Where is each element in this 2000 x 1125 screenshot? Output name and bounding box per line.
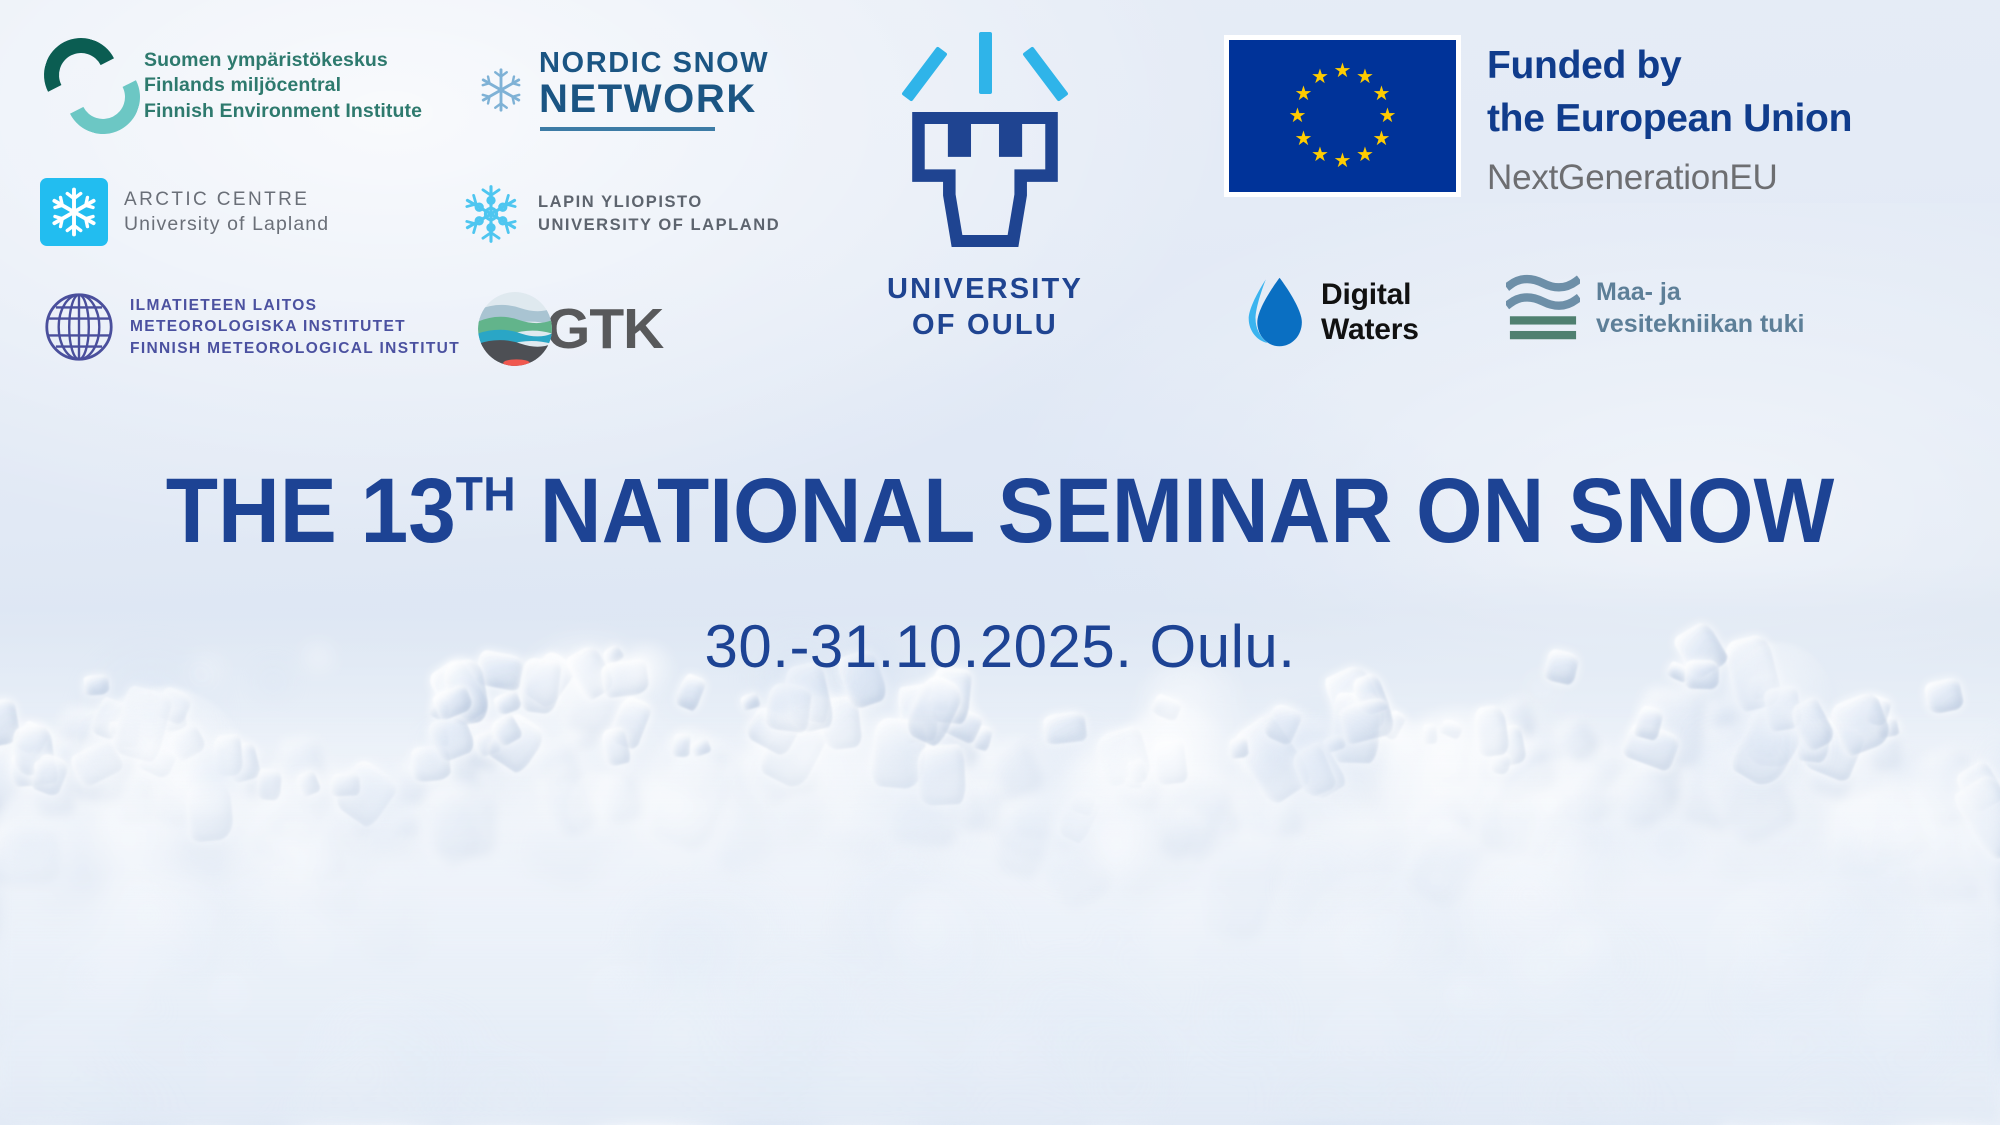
arctic-centre-wordmark: ARCTIC CENTRE University of Lapland bbox=[124, 187, 329, 237]
title-prefix: THE 13 bbox=[166, 460, 456, 562]
logo-arctic-centre[interactable]: ARCTIC CENTRE University of Lapland bbox=[40, 178, 329, 246]
eu-star-icon: ★ bbox=[1371, 84, 1391, 104]
nsn-underline-rule bbox=[540, 127, 715, 131]
eu-star-icon: ★ bbox=[1294, 129, 1314, 149]
snow-haze-overlay bbox=[0, 705, 2000, 1125]
eu-star-icon: ★ bbox=[1333, 61, 1353, 81]
gtk-landscape-icon bbox=[478, 292, 552, 366]
snowflake-icon bbox=[46, 184, 102, 240]
syke-line-2: Finlands miljöcentral bbox=[144, 73, 422, 99]
logo-university-of-oulu[interactable]: UNIVERSITY OF OULU bbox=[860, 30, 1110, 343]
oulu-line-2: OF OULU bbox=[887, 307, 1083, 343]
nsn-wordmark: NORDIC SNOW NETWORK bbox=[539, 48, 769, 131]
snowflake-icon bbox=[477, 66, 525, 114]
eu-line-2: the European Union bbox=[1487, 92, 1852, 145]
gtk-wordmark: GTK bbox=[546, 300, 663, 358]
page-title: THE 13TH NATIONAL SEMINAR ON SNOW bbox=[70, 465, 1930, 557]
mvt-wordmark: Maa- ja vesitekniikan tuki bbox=[1596, 276, 1804, 340]
oulu-spark-icon bbox=[910, 30, 1060, 104]
eu-star-icon: ★ bbox=[1310, 67, 1330, 87]
fmi-globe-icon bbox=[44, 292, 114, 362]
sponsor-logo-band: Suomen ympäristökeskus Finlands miljöcen… bbox=[0, 0, 2000, 380]
eu-star-icon: ★ bbox=[1288, 106, 1308, 126]
logo-maa-ja-vesitekniikan-tuki[interactable]: Maa- ja vesitekniikan tuki bbox=[1506, 274, 1804, 342]
mvt-line-2: vesitekniikan tuki bbox=[1596, 308, 1804, 340]
eu-wordmark: Funded by the European Union NextGenerat… bbox=[1487, 39, 1852, 202]
logo-nordic-snow-network[interactable]: NORDIC SNOW NETWORK bbox=[477, 48, 769, 131]
digital-waters-wordmark: Digital Waters bbox=[1321, 277, 1419, 347]
logo-funded-by-european-union[interactable]: ★★★★★★★★★★★★ Funded by the European Unio… bbox=[1224, 35, 1852, 202]
snowflake-icon bbox=[460, 182, 522, 246]
poster-canvas: Suomen ympäristökeskus Finlands miljöcen… bbox=[0, 0, 2000, 1125]
dw-line-2: Waters bbox=[1321, 312, 1419, 347]
logo-lapin-yliopisto[interactable]: LAPIN YLIOPISTO UNIVERSITY OF LAPLAND bbox=[460, 182, 780, 246]
waves-and-bars-icon bbox=[1506, 274, 1580, 342]
eu-star-icon: ★ bbox=[1378, 106, 1398, 126]
fmi-line-2: METEOROLOGISKA INSTITUTET bbox=[130, 316, 460, 338]
lapin-wordmark: LAPIN YLIOPISTO UNIVERSITY OF LAPLAND bbox=[538, 191, 780, 237]
arctic-centre-tile bbox=[40, 178, 108, 246]
lapin-line-1: LAPIN YLIOPISTO bbox=[538, 191, 780, 214]
dw-line-1: Digital bbox=[1321, 277, 1419, 312]
syke-circle-icon bbox=[44, 38, 128, 134]
fmi-line-3: FINNISH METEOROLOGICAL INSTITUT bbox=[130, 338, 460, 360]
arctic-centre-line-1: ARCTIC CENTRE bbox=[124, 187, 329, 212]
eu-flag-frame: ★★★★★★★★★★★★ bbox=[1224, 35, 1461, 197]
nsn-line-1: NORDIC SNOW bbox=[539, 48, 769, 79]
logo-finnish-meteorological-institute[interactable]: ILMATIETEEN LAITOS METEOROLOGISKA INSTIT… bbox=[44, 292, 460, 362]
fmi-line-1: ILMATIETEEN LAITOS bbox=[130, 295, 460, 317]
logo-finnish-environment-institute[interactable]: Suomen ympäristökeskus Finlands miljöcen… bbox=[44, 38, 422, 134]
eu-line-3: NextGenerationEU bbox=[1487, 153, 1852, 202]
syke-line-3: Finnish Environment Institute bbox=[144, 99, 422, 125]
lapin-line-2: UNIVERSITY OF LAPLAND bbox=[538, 214, 780, 237]
logo-digital-waters[interactable]: Digital Waters bbox=[1247, 276, 1419, 348]
fmi-wordmark: ILMATIETEEN LAITOS METEOROLOGISKA INSTIT… bbox=[130, 295, 460, 360]
mvt-line-1: Maa- ja bbox=[1596, 276, 1804, 308]
oulu-castle-icon bbox=[911, 112, 1059, 247]
eu-star-icon: ★ bbox=[1333, 151, 1353, 171]
event-date-location: 30.-31.10.2025. Oulu. bbox=[0, 612, 2000, 682]
syke-wordmark: Suomen ympäristökeskus Finlands miljöcen… bbox=[144, 48, 422, 125]
title-rest: NATIONAL SEMINAR ON SNOW bbox=[516, 460, 1834, 562]
arctic-centre-line-2: University of Lapland bbox=[124, 212, 329, 237]
title-ordinal-suffix: TH bbox=[456, 468, 516, 521]
syke-line-1: Suomen ympäristökeskus bbox=[144, 48, 422, 74]
eu-star-icon: ★ bbox=[1355, 145, 1375, 165]
logo-gtk[interactable]: GTK bbox=[478, 292, 663, 366]
eu-flag: ★★★★★★★★★★★★ bbox=[1229, 40, 1456, 192]
oulu-wordmark: UNIVERSITY OF OULU bbox=[887, 271, 1083, 343]
oulu-line-1: UNIVERSITY bbox=[887, 271, 1083, 307]
water-drop-icon bbox=[1247, 276, 1307, 348]
nsn-line-2: NETWORK bbox=[539, 79, 769, 119]
eu-line-1: Funded by bbox=[1487, 39, 1852, 92]
